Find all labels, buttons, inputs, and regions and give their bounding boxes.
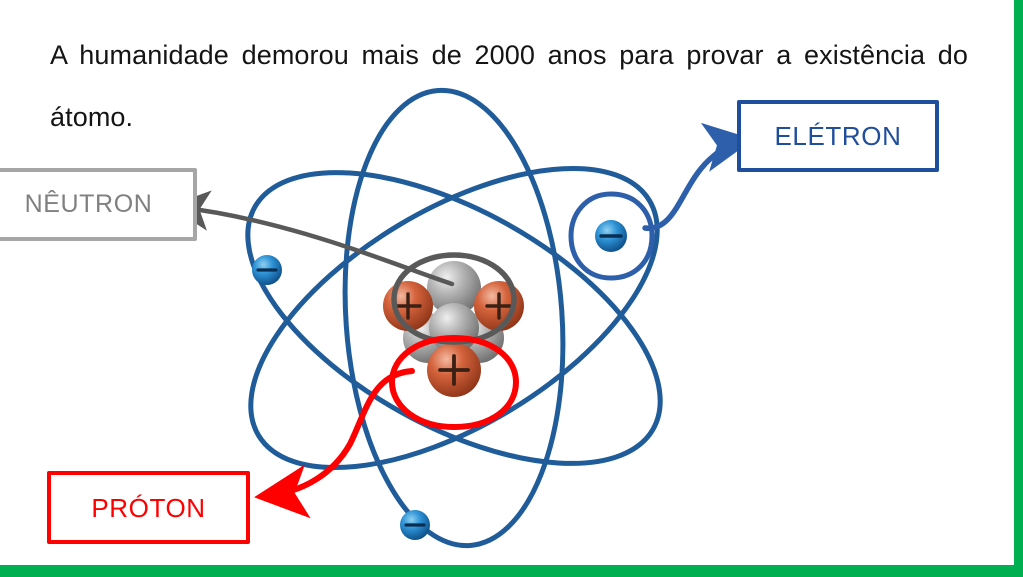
atom-illustration [196, 70, 716, 570]
proton-particle [383, 281, 433, 331]
electron-particle-left [252, 255, 282, 285]
callout-proton[interactable]: PRÓTON [47, 471, 250, 544]
callout-neutron[interactable]: NÊUTRON [0, 168, 197, 241]
callout-neutron-label: NÊUTRON [25, 192, 163, 217]
proton-particle [474, 281, 524, 331]
callout-eletron[interactable]: ELÉTRON [737, 100, 939, 172]
accent-bar-right [1014, 0, 1023, 577]
proton-particle-highlighted [427, 343, 481, 397]
callout-eletron-label: ELÉTRON [774, 123, 901, 149]
electron-particle-bottom [400, 510, 430, 540]
nucleus-cluster [383, 261, 524, 397]
callout-proton-label: PRÓTON [91, 495, 205, 521]
electron-particle-right-highlighted [571, 194, 652, 278]
slide-canvas: A humanidade demorou mais de 2000 anos p… [0, 0, 1023, 577]
